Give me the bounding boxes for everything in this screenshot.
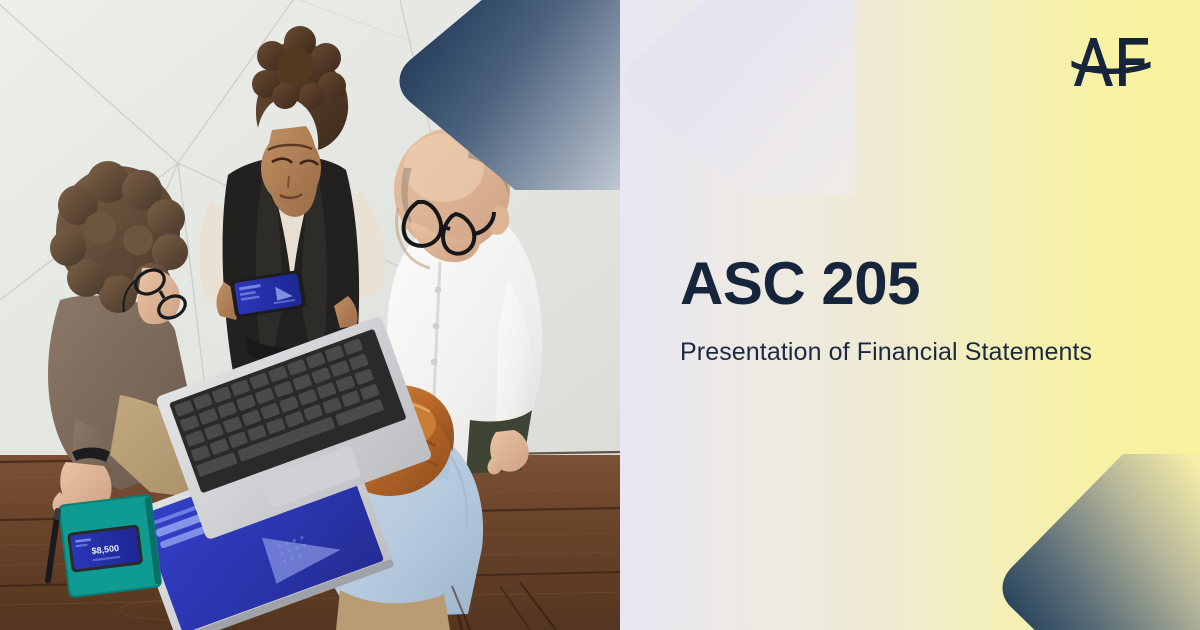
content-panel: ASC 205 Presentation of Financial Statem…	[620, 0, 1200, 630]
page-title: ASC 205	[680, 252, 1150, 315]
chevron-dark-top-icon	[392, 0, 632, 190]
chevron-light-top-icon	[620, 0, 855, 194]
page-subtitle: Presentation of Financial Statements	[680, 337, 1150, 368]
chevron-corner-bottom-right-icon	[995, 448, 1200, 630]
hero-text-block: ASC 205 Presentation of Financial Statem…	[680, 252, 1150, 368]
af-monogram-icon[interactable]	[1070, 36, 1152, 88]
social-share-card: $8,500	[0, 0, 1200, 630]
